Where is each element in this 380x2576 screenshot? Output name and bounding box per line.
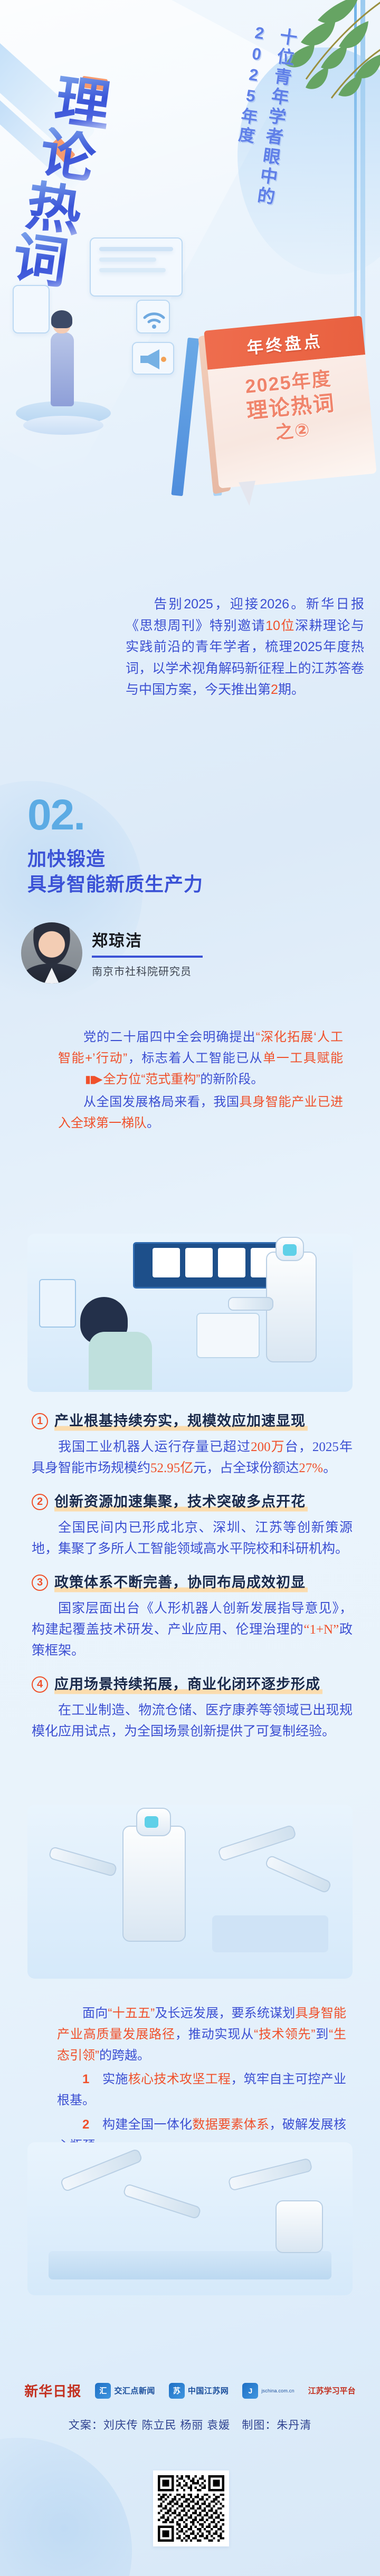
point-badge: 2 xyxy=(32,1494,48,1510)
arrow-right-icon: ▮▮▶ xyxy=(60,1071,101,1089)
outlook-item-a: 实施 xyxy=(102,2072,128,2086)
qr-code[interactable] xyxy=(153,2470,229,2546)
illustration-screen-line xyxy=(99,247,173,251)
section-heading-line-2: 具身智能新质生产力 xyxy=(27,872,203,897)
point-title: 政策体系不断完善，协同布局成效初显 xyxy=(54,1573,308,1593)
logo-jiaohuidian[interactable]: 汇 交汇点新闻 xyxy=(95,2383,155,2399)
point-body: 全国民间内已形成北京、深圳、江苏等创新策源地，集聚了多所人工智能领域高水平院校和… xyxy=(32,1518,353,1560)
point-header: 4 应用场景持续拓展，商业化闭环逐步形成 xyxy=(32,1675,353,1695)
outlook-lead-e: 的跨越。 xyxy=(99,2048,150,2063)
list-item: 3 政策体系不断完善，协同布局成效初显 国家层面出台《人形机器人创新发展指导意见… xyxy=(32,1573,353,1662)
point-highlight-2: 52.95亿 xyxy=(150,1461,193,1475)
footer-credits: 文案：刘庆传 陈立民 杨丽 袁媛 制图：朱丹清 xyxy=(0,2417,380,2432)
illustration-strip-lab xyxy=(27,1234,353,1392)
outlook-lead: 面向“十五五”及长远发展，要系统谋划具身智能产业高质量发展路径，推动实现从“技术… xyxy=(57,2003,346,2066)
author-meta: 郑琼洁 南京市社科院研究员 xyxy=(92,928,203,978)
point-highlight-1: 200万 xyxy=(251,1440,285,1454)
scene-app-tile xyxy=(185,1248,213,1277)
illustration-screen-card xyxy=(90,237,183,297)
scene-humanoid-robot xyxy=(266,1252,317,1362)
qr-code-image xyxy=(158,2475,224,2542)
point-body-d: 。 xyxy=(323,1461,336,1475)
illustration-pedestal-inner xyxy=(23,416,103,435)
illustration-strip-assembly xyxy=(27,2142,353,2295)
point-highlight-3: 27% xyxy=(299,1461,323,1475)
outlook-item-number: 1 xyxy=(82,2072,89,2086)
bg-blob-bottom-left xyxy=(0,2438,132,2576)
point-header: 3 政策体系不断完善，协同布局成效初显 xyxy=(32,1573,353,1593)
logo-jschina[interactable]: 苏 中国江苏网 xyxy=(169,2383,229,2399)
body-p1-b: ，标志着人工智能已从 xyxy=(127,1051,263,1065)
section-number: 02. xyxy=(27,790,84,840)
poster-root: 十位青年学者眼中的 2025年度 理 论 热 词 xyxy=(0,0,380,2576)
body-paragraphs: 党的二十届四中全会明确提出“深化拓展‘人工智能+’行动”，标志着人工智能已从单一… xyxy=(58,1027,343,1136)
logo-jschina-url[interactable]: J jschina.com.cn xyxy=(242,2383,294,2399)
point-body: 我国工业机器人运行存量已超过200万台，2025年具身智能市场规模约52.95亿… xyxy=(32,1437,353,1479)
author-block: 郑琼洁 南京市社科院研究员 xyxy=(21,922,203,984)
outlook-lead-a: 面向 xyxy=(82,2006,108,2020)
list-item: 4 应用场景持续拓展，商业化闭环逐步形成 在工业制造、物流仓储、医疗康养等领域已… xyxy=(32,1675,353,1742)
outlook-item-number: 2 xyxy=(82,2117,89,2132)
list-item: 1 产业根基持续夯实，规模效应加速显现 我国工业机器人运行存量已超过200万台，… xyxy=(32,1412,353,1479)
scene-student-body xyxy=(89,1332,152,1390)
section-heading-line-1: 加快锻造 xyxy=(27,846,203,872)
point-badge: 3 xyxy=(32,1575,48,1591)
body-p1-c: 的新阶段。 xyxy=(200,1072,263,1086)
outlook-lead-highlight-1: “十五五” xyxy=(108,2006,155,2020)
point-body-c: 元，占全球份额达 xyxy=(193,1461,299,1475)
point-badge: 1 xyxy=(32,1413,48,1429)
body-paragraph-2: 从全国发展格局来看，我国具身智能产业已进入全球第一梯队。 xyxy=(58,1092,343,1134)
tablet-illustration xyxy=(13,285,50,333)
section-heading: 加快锻造 具身智能新质生产力 xyxy=(27,846,203,896)
body-p1-highlight-3: 全方位“范式重构” xyxy=(103,1072,200,1086)
outlook-item-highlight: 数据要素体系 xyxy=(192,2117,269,2132)
point-body-a: 我国工业机器人运行存量已超过 xyxy=(58,1440,251,1454)
industrial-arm-lower xyxy=(264,1855,332,1894)
wifi-icon-card xyxy=(136,300,170,333)
intro-highlight-1: 10位 xyxy=(265,618,295,633)
author-name: 郑琼洁 xyxy=(92,928,203,951)
easel-leg-left xyxy=(171,338,199,497)
logo-xinhua-daily[interactable]: 新华日报 xyxy=(24,2381,81,2400)
illustration-screen-line xyxy=(99,257,156,262)
point-header: 2 创新资源加速集聚，技术突破多点开花 xyxy=(32,1493,353,1512)
author-organization: 南京市社科院研究员 xyxy=(92,963,203,978)
outlook-lead-c: ，推动实现从 xyxy=(175,2027,254,2041)
logo-jiangsu-xuexi[interactable]: 江苏学习平台 xyxy=(308,2385,356,2396)
illustration-strip-factory xyxy=(27,1805,353,1979)
outlook-item: 1 实施核心技术攻坚工程，筑牢自主可控产业根基。 xyxy=(57,2069,346,2111)
body-p1-highlight-2: 单一工具赋能 xyxy=(263,1051,343,1065)
factory-robot-body xyxy=(122,1826,186,1942)
footer-logos: 新华日报 汇 交汇点新闻 苏 中国江苏网 J jschina.com.cn 江苏… xyxy=(0,2381,380,2400)
author-divider xyxy=(92,956,203,958)
intro-highlight-2: 2 xyxy=(271,682,278,697)
logo-mark-icon: J xyxy=(242,2383,258,2399)
wifi-icon xyxy=(137,301,171,335)
assembly-arm-3 xyxy=(227,2158,313,2191)
intro-part-3: 期。 xyxy=(278,682,305,697)
signboard: 年终盘点 2025年度 理论热词 之② xyxy=(204,316,376,488)
assembly-robot xyxy=(275,2200,323,2253)
outlook-lead-highlight-3: “技术领先” xyxy=(254,2027,315,2041)
factory-conveyor xyxy=(212,1915,328,1952)
signboard-body: 2025年度 理论热词 之② xyxy=(207,355,376,489)
scene-robot-eye xyxy=(283,1244,297,1256)
scene-medical-monitor xyxy=(196,1313,260,1358)
body-p2-b: 。 xyxy=(147,1116,159,1130)
illustration-person-hair xyxy=(51,310,72,328)
assembly-arm-2 xyxy=(122,2183,202,2219)
outlook-lead-d: 到 xyxy=(315,2027,329,2041)
list-item: 2 创新资源加速集聚，技术突破多点开花 全国民间内已形成北京、深圳、江苏等创新策… xyxy=(32,1493,353,1560)
signboard-stand xyxy=(239,481,258,507)
scene-robot-arm xyxy=(228,1297,273,1311)
outlook-lead-b: 及长远发展，要系统谋划 xyxy=(155,2006,295,2020)
intro-paragraph: 告别2025，迎接2026。新华日报《思想周刊》特别邀请10位深耕理论与实践前沿… xyxy=(126,594,364,701)
scene-monitor xyxy=(39,1279,76,1328)
key-points-list: 1 产业根基持续夯实，规模效应加速显现 我国工业机器人运行存量已超过200万台，… xyxy=(32,1412,353,1756)
body-p2-a: 从全国发展格局来看，我国 xyxy=(83,1095,240,1109)
point-title: 创新资源加速集聚，技术突破多点开花 xyxy=(54,1493,308,1512)
signboard-banner-text: 年终盘点 xyxy=(245,327,324,358)
point-body: 国家层面出台《人形机器人创新发展指导意见》，构建起覆盖技术研发、产业应用、伦理治… xyxy=(32,1598,353,1662)
point-body: 在工业制造、物流仓储、医疗康养等领域已出现规模化应用试点，为全国场景创新提供了可… xyxy=(32,1700,353,1742)
assembly-conveyor xyxy=(49,2251,331,2279)
illustration-screen-line xyxy=(99,268,166,272)
point-header: 1 产业根基持续夯实，规模效应加速显现 xyxy=(32,1412,353,1432)
body-p1-a: 党的二十届四中全会明确提出 xyxy=(83,1030,256,1044)
avatar xyxy=(21,922,82,984)
body-paragraph-1: 党的二十届四中全会明确提出“深化拓展‘人工智能+’行动”，标志着人工智能已从单一… xyxy=(58,1027,343,1090)
point-highlight-1: “1+N” xyxy=(303,1623,339,1637)
factory-robot-eye xyxy=(145,1816,158,1828)
scene-app-tile xyxy=(218,1248,245,1277)
logo-mark-icon: 苏 xyxy=(169,2383,185,2399)
industrial-arm-upper xyxy=(217,1824,297,1862)
point-badge: 4 xyxy=(32,1676,48,1693)
outlook-item-a: 构建全国一体化 xyxy=(102,2117,192,2132)
point-title: 产业根基持续夯实，规模效应加速显现 xyxy=(54,1412,308,1432)
point-title: 应用场景持续拓展，商业化闭环逐步形成 xyxy=(54,1675,322,1695)
outlook-item-highlight: 核心技术攻坚工程 xyxy=(128,2072,231,2086)
illustration-person-body xyxy=(51,332,74,406)
scene-app-tile xyxy=(153,1248,180,1277)
logo-mark-icon: 汇 xyxy=(95,2383,111,2399)
industrial-arm-left xyxy=(48,1846,118,1877)
